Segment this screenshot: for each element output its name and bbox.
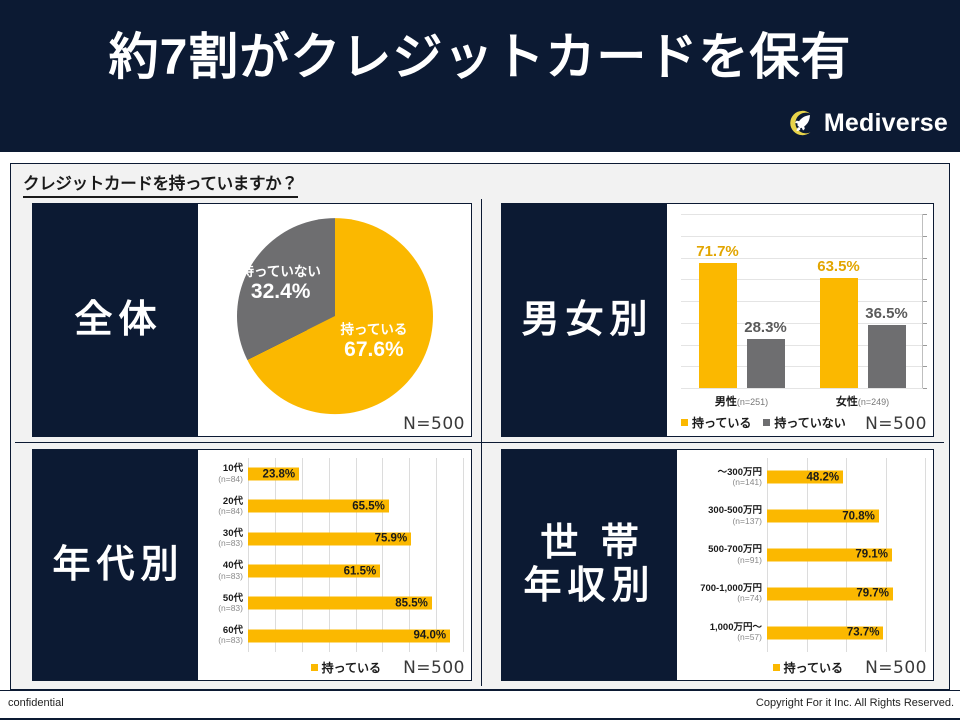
age-row-10s: 10代 (n=84) 23.8%	[204, 458, 463, 490]
income-value-1: 70.8%	[842, 510, 879, 522]
income-bar-2: 79.1%	[767, 548, 892, 561]
income-legend: 持っている	[773, 659, 843, 676]
income-track-1: 70.8%	[767, 497, 925, 536]
income-value-2: 79.1%	[855, 549, 892, 561]
gender-male-n: (n=251)	[737, 397, 768, 407]
bar-female-no-label: 36.5%	[865, 305, 908, 322]
gender-legend: 持っている 持っていない	[681, 414, 846, 431]
page-title: 約7割がクレジットカードを保有	[0, 26, 960, 88]
age-track-40s: 61.5%	[248, 555, 463, 587]
age-bar-50s: 85.5%	[248, 597, 432, 610]
age-value-20s: 65.5%	[352, 500, 389, 512]
age-chart: 10代 (n=84) 23.8%	[198, 450, 471, 680]
income-chart: ～300万円 (n=141) 48.2%	[677, 450, 933, 680]
age-n-30s: (n=83)	[204, 539, 243, 548]
bar-female-yes: 63.5%	[820, 278, 858, 388]
age-legend-label: 持っている	[322, 659, 381, 676]
gender-category-axis: 男性(n=251) 女性(n=249)	[681, 393, 923, 409]
slide-footer: confidential Copyright For it Inc. All R…	[0, 690, 960, 720]
age-value-60s: 94.0%	[413, 630, 450, 642]
age-bar-10s: 23.8%	[248, 468, 299, 481]
panel-income-label: 世 帯 年収別	[502, 450, 677, 680]
age-value-30s: 75.9%	[375, 533, 412, 545]
question-title: クレジットカードを持っていますか？	[23, 170, 298, 198]
panel-gender-label: 男女別	[502, 204, 667, 436]
gender-vertical-bar-chart: 71.7% 28.3% 63.5%	[667, 204, 933, 436]
income-label-4: 1,000万円～ (n=57)	[683, 623, 767, 643]
gender-category-male: 男性(n=251)	[681, 393, 802, 409]
age-row-50s: 50代 (n=83) 85.5%	[204, 587, 463, 619]
pie-slice-no-name: 持っていない	[241, 264, 321, 280]
footer-confidential: confidential	[8, 697, 64, 709]
gender-chart: 71.7% 28.3% 63.5%	[667, 204, 933, 436]
legend-item-no: 持っていない	[763, 414, 845, 431]
income-n-3: (n=74)	[683, 594, 762, 603]
age-row-60s: 60代 (n=83) 94.0%	[204, 620, 463, 652]
panel-age-label: 年代別	[33, 450, 198, 680]
age-bar-40s: 61.5%	[248, 565, 380, 578]
income-bar-0: 48.2%	[767, 471, 843, 484]
legend-swatch-yes-icon	[681, 419, 688, 426]
bar-female-no: 36.5%	[868, 325, 906, 389]
age-n-20s: (n=84)	[204, 507, 243, 516]
pie-chart: 持っていない 32.4% 持っている 67.6%	[237, 218, 433, 414]
age-label-50s: 50代 (n=83)	[204, 594, 248, 614]
income-bar-3: 79.7%	[767, 587, 893, 600]
age-label-10s: 10代 (n=84)	[204, 464, 248, 484]
age-bar-60s: 94.0%	[248, 629, 450, 642]
age-row-30s: 30代 (n=83) 75.9%	[204, 523, 463, 555]
income-track-4: 73.7%	[767, 613, 925, 652]
income-n-2: (n=91)	[683, 556, 762, 565]
pie-slice-yes-name: 持っている	[341, 322, 408, 338]
legend-label-no: 持っていない	[774, 414, 845, 431]
income-bar-4: 73.7%	[767, 626, 883, 639]
footer-copyright: Copyright For it Inc. All Rights Reserve…	[756, 697, 954, 709]
age-row-20s: 20代 (n=84) 65.5%	[204, 490, 463, 522]
income-n-0: (n=141)	[683, 478, 762, 487]
pie-slice-no-value: 32.4%	[241, 280, 321, 304]
income-label-2: 500-700万円 (n=91)	[683, 545, 767, 565]
income-row-0: ～300万円 (n=141) 48.2%	[683, 458, 925, 497]
brand-logo: Mediverse	[787, 108, 948, 138]
age-n-10s: (n=84)	[204, 475, 243, 484]
age-n-60s: (n=83)	[204, 636, 243, 645]
income-legend-label: 持っている	[784, 659, 843, 676]
panel-income-label-text: 世 帯 年収別	[523, 522, 655, 607]
income-track-2: 79.1%	[767, 536, 925, 575]
panel-overall-label: 全体	[33, 204, 198, 436]
age-value-40s: 61.5%	[344, 565, 381, 577]
income-label-line2: 年収別	[523, 565, 655, 607]
logo-text: Mediverse	[824, 108, 948, 138]
bar-male-yes: 71.7%	[699, 263, 737, 388]
income-name-2: 500-700万円	[683, 545, 762, 555]
panel-overall: 全体 持っていない 32.4% 持っている 67.6% N=500	[32, 203, 472, 437]
slide-root: 約7割がクレジットカードを保有 Mediverse クレジットカードを持っていま…	[0, 0, 960, 720]
age-label-40s: 40代 (n=83)	[204, 561, 248, 581]
age-label-30s: 30代 (n=83)	[204, 529, 248, 549]
gender-male-name: 男性	[715, 396, 737, 408]
legend-swatch-no-icon	[763, 419, 770, 426]
income-track-3: 79.7%	[767, 574, 925, 613]
age-label-20s: 20代 (n=84)	[204, 497, 248, 517]
legend-item-yes: 持っている	[681, 414, 751, 431]
panel-age: 年代別 10代 (n=84)	[32, 449, 472, 681]
income-label-3: 700-1,000万円 (n=74)	[683, 584, 767, 604]
age-rows: 10代 (n=84) 23.8%	[204, 458, 463, 652]
age-legend: 持っている	[311, 659, 381, 676]
income-row-2: 500-700万円 (n=91) 79.1%	[683, 536, 925, 575]
rocket-crescent-icon	[787, 108, 817, 138]
income-row-4: 1,000万円～ (n=57) 73.7%	[683, 613, 925, 652]
age-track-60s: 94.0%	[248, 620, 463, 652]
content-frame: クレジットカードを持っていますか？ 全体 持っていない 32.4% 持っている	[10, 163, 950, 690]
bar-male-no-label: 28.3%	[744, 319, 787, 336]
legend-swatch-yes-icon	[773, 664, 780, 671]
age-value-10s: 23.8%	[263, 468, 300, 480]
gender-plot-area: 71.7% 28.3% 63.5%	[681, 214, 923, 388]
income-row-3: 700-1,000万円 (n=74) 79.7%	[683, 574, 925, 613]
income-label-0: ～300万円 (n=141)	[683, 468, 767, 488]
pie-slice-label-yes: 持っている 67.6%	[341, 322, 408, 362]
age-row-40s: 40代 (n=83) 61.5%	[204, 555, 463, 587]
panel-grid: 全体 持っていない 32.4% 持っている 67.6% N=500	[11, 197, 948, 688]
age-value-50s: 85.5%	[395, 597, 432, 609]
income-label-1: 300-500万円 (n=137)	[683, 506, 767, 526]
gender-group-female: 63.5% 36.5%	[802, 214, 923, 388]
age-label-60s: 60代 (n=83)	[204, 626, 248, 646]
pie-slice-yes-value: 67.6%	[341, 338, 408, 362]
panel-gender: 男女別	[501, 203, 934, 437]
age-track-30s: 75.9%	[248, 523, 463, 555]
pie-graphic	[237, 218, 433, 414]
income-n-4: (n=57)	[683, 633, 762, 642]
age-n-total: N=500	[403, 658, 465, 678]
income-horizontal-bar-chart: ～300万円 (n=141) 48.2%	[677, 450, 933, 680]
legend-label-yes: 持っている	[692, 414, 751, 431]
gender-group-male: 71.7% 28.3%	[681, 214, 802, 388]
age-horizontal-bar-chart: 10代 (n=84) 23.8%	[198, 450, 471, 680]
gender-n-total: N=500	[865, 414, 927, 434]
age-track-50s: 85.5%	[248, 587, 463, 619]
overall-n-total: N=500	[403, 414, 465, 434]
overall-chart: 持っていない 32.4% 持っている 67.6% N=500	[198, 204, 471, 436]
income-n-1: (n=137)	[683, 517, 762, 526]
income-value-3: 79.7%	[856, 588, 893, 600]
age-track-10s: 23.8%	[248, 458, 463, 490]
income-track-0: 48.2%	[767, 458, 925, 497]
legend-swatch-yes-icon	[311, 664, 318, 671]
income-value-0: 48.2%	[807, 471, 844, 483]
gender-category-female: 女性(n=249)	[802, 393, 923, 409]
horizontal-divider	[15, 442, 944, 443]
age-bar-20s: 65.5%	[248, 500, 389, 513]
pie-slice-label-no: 持っていない 32.4%	[241, 264, 321, 304]
age-bar-30s: 75.9%	[248, 532, 411, 545]
slide-header: 約7割がクレジットカードを保有 Mediverse	[0, 0, 960, 152]
income-row-1: 300-500万円 (n=137) 70.8%	[683, 497, 925, 536]
age-n-50s: (n=83)	[204, 604, 243, 613]
income-bar-1: 70.8%	[767, 510, 879, 523]
bar-male-no: 28.3%	[747, 339, 785, 388]
gender-female-n: (n=249)	[858, 397, 889, 407]
income-n-total: N=500	[865, 658, 927, 678]
panel-income: 世 帯 年収別 ～300万円 (n=141)	[501, 449, 934, 681]
age-n-40s: (n=83)	[204, 572, 243, 581]
gender-female-name: 女性	[836, 396, 858, 408]
income-label-line1: 世 帯	[540, 522, 645, 564]
bar-male-yes-label: 71.7%	[696, 243, 739, 260]
bar-female-yes-label: 63.5%	[817, 258, 860, 275]
income-rows: ～300万円 (n=141) 48.2%	[683, 458, 925, 652]
income-value-4: 73.7%	[847, 627, 884, 639]
age-track-20s: 65.5%	[248, 490, 463, 522]
